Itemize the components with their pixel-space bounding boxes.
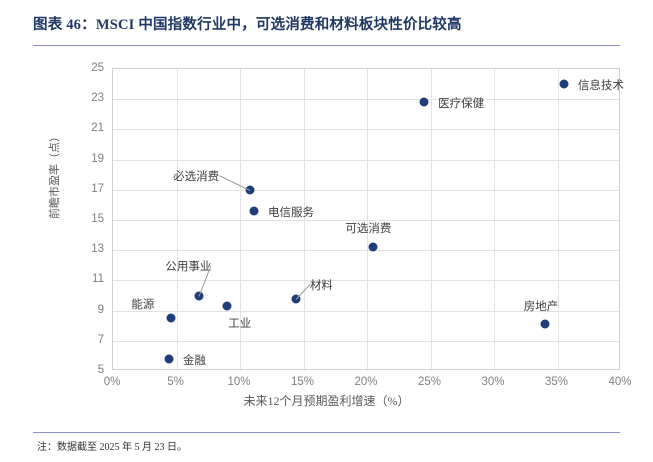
data-point-label: 医疗保健 <box>438 95 484 111</box>
label-leader-line <box>219 175 250 191</box>
y-axis-tick: 9 <box>0 304 104 316</box>
y-gridline <box>113 99 619 100</box>
y-gridline <box>113 129 619 130</box>
x-gridline <box>367 69 368 369</box>
data-point-label: 材料 <box>310 277 333 293</box>
data-point[interactable] <box>223 302 232 311</box>
y-axis-tick: 23 <box>0 92 104 104</box>
y-gridline <box>113 160 619 161</box>
scatter-chart: 前瞻市盈率（点） 金融能源公用事业工业必选消费电信服务材料可选消费医疗保健房地产… <box>0 56 653 426</box>
x-axis-tick: 40% <box>608 376 631 388</box>
chart-header: 图表 46：MSCI 中国指数行业中，可选消费和材料板块性价比较高 <box>0 0 653 56</box>
y-axis-tick: 7 <box>0 334 104 346</box>
x-gridline <box>431 69 432 369</box>
x-axis-tick: 20% <box>354 376 377 388</box>
x-axis-tick: 0% <box>104 376 121 388</box>
data-point-label: 信息技术 <box>578 77 624 93</box>
data-point[interactable] <box>369 243 378 252</box>
y-axis-tick: 17 <box>0 183 104 195</box>
x-axis-tick: 25% <box>418 376 441 388</box>
y-gridline <box>113 341 619 342</box>
data-point[interactable] <box>249 206 258 215</box>
y-axis-tick: 15 <box>0 213 104 225</box>
title-divider <box>33 45 620 46</box>
x-axis-tick: 35% <box>545 376 568 388</box>
x-axis-tick: 15% <box>291 376 314 388</box>
x-gridline <box>177 69 178 369</box>
page-title: 图表 46：MSCI 中国指数行业中，可选消费和材料板块性价比较高 <box>33 13 462 34</box>
data-point[interactable] <box>540 320 549 329</box>
plot-area: 金融能源公用事业工业必选消费电信服务材料可选消费医疗保健房地产信息技术 <box>112 68 620 370</box>
x-gridline <box>558 69 559 369</box>
y-axis-title: 前瞻市盈率（点） <box>46 131 62 219</box>
y-axis-tick: 21 <box>0 122 104 134</box>
y-axis-tick: 19 <box>0 153 104 165</box>
footnote: 注：数据截至 2025 年 5 月 23 日。 <box>37 438 187 453</box>
data-point-label: 金融 <box>183 352 206 368</box>
data-point[interactable] <box>559 80 568 89</box>
data-point-label: 电信服务 <box>268 204 314 220</box>
data-point[interactable] <box>420 98 429 107</box>
y-gridline <box>113 190 619 191</box>
y-axis-tick: 13 <box>0 243 104 255</box>
data-point-label: 可选消费 <box>345 220 391 236</box>
data-point[interactable] <box>164 354 173 363</box>
y-gridline <box>113 250 619 251</box>
x-gridline <box>494 69 495 369</box>
data-point-label: 工业 <box>228 315 251 331</box>
x-axis-title: 未来12个月预期盈利增速（%） <box>0 392 653 409</box>
x-axis-tick: 5% <box>167 376 184 388</box>
data-point-label: 必选消费 <box>173 168 219 184</box>
data-point-label: 能源 <box>131 296 154 312</box>
x-axis-tick: 10% <box>227 376 250 388</box>
x-axis-tick: 30% <box>481 376 504 388</box>
data-point-label: 公用事业 <box>165 258 211 274</box>
y-axis-tick: 5 <box>0 364 104 376</box>
data-point-label: 房地产 <box>524 298 559 314</box>
y-axis-tick: 11 <box>0 273 104 285</box>
y-gridline <box>113 280 619 281</box>
y-axis-tick: 25 <box>0 62 104 74</box>
data-point[interactable] <box>167 314 176 323</box>
footer-divider <box>33 432 620 433</box>
